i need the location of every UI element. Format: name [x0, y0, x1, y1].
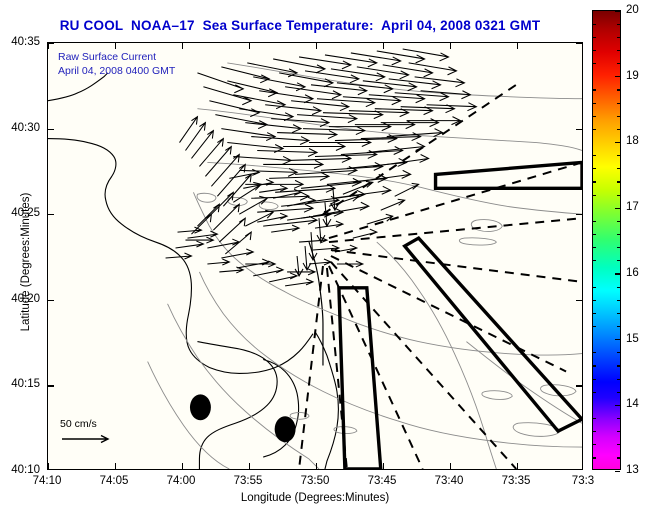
y-tick-left [48, 300, 54, 301]
page-title: RU COOL NOAA–17 Sea Surface Temperature:… [0, 18, 600, 33]
map-plot-area: Raw Surface Current April 04, 2008 0400 … [47, 42, 583, 470]
colorbar-minor-tick [593, 313, 596, 314]
colorbar-minor-tick [617, 287, 620, 288]
y-tick-right [576, 214, 582, 215]
colorbar-minor-tick [617, 392, 620, 393]
x-tick-top [316, 43, 317, 49]
colorbar-minor-tick [593, 129, 596, 130]
colorbar-minor-tick [617, 260, 620, 261]
colorbar-minor-tick [617, 418, 620, 419]
transect-box-3 [339, 288, 381, 469]
x-tick-top [249, 43, 250, 49]
colorbar-tick-label: 16 [626, 267, 639, 279]
colorbar-tick [615, 273, 620, 274]
colorbar-minor-tick [593, 63, 596, 64]
x-tick-label: 73:50 [301, 475, 330, 487]
colorbar-tick [615, 142, 620, 143]
x-tick-top [383, 43, 384, 49]
y-tick-left [48, 43, 54, 44]
colorbar-tick-label: 15 [626, 333, 639, 345]
coastline-outer [309, 242, 323, 365]
y-tick-right [576, 385, 582, 386]
colorbar-tick-label: 18 [626, 135, 639, 147]
colorbar-minor-tick [617, 444, 620, 445]
x-tick-label: 73:40 [435, 475, 464, 487]
x-tick-bottom [316, 463, 317, 469]
transect-box-1 [436, 162, 582, 188]
colorbar-minor-tick [617, 313, 620, 314]
y-tick-right [576, 129, 582, 130]
colorbar-minor-tick [593, 24, 596, 25]
colorbar-tick [615, 76, 620, 77]
colorbar-minor-tick [593, 195, 596, 196]
y-tick-label: 40:35 [0, 36, 40, 48]
x-tick-top [450, 43, 451, 49]
x-tick-bottom [115, 463, 116, 469]
colorbar-minor-tick [617, 103, 620, 104]
y-tick-left [48, 129, 54, 130]
x-tick-label: 73:35 [502, 475, 531, 487]
colorbar-minor-tick [593, 379, 596, 380]
x-tick-top [182, 43, 183, 49]
colorbar-minor-tick [593, 326, 596, 327]
x-tick-bottom [48, 463, 49, 469]
colorbar-tick-label: 14 [626, 398, 639, 410]
colorbar-tick-label: 17 [626, 201, 639, 213]
colorbar-minor-tick [617, 247, 620, 248]
bathymetry-contours [148, 63, 582, 469]
y-tick-left [48, 214, 54, 215]
colorbar-tick [615, 405, 620, 406]
colorbar-minor-tick [593, 221, 596, 222]
x-tick-label: 73:3 [572, 475, 594, 487]
colorbar-tick-label: 13 [626, 464, 639, 476]
colorbar-minor-tick [617, 24, 620, 25]
transect-boxes [339, 162, 582, 469]
y-tick-right [576, 300, 582, 301]
colorbar-minor-tick [593, 116, 596, 117]
x-tick-label: 73:55 [234, 475, 263, 487]
colorbar-minor-tick [593, 431, 596, 432]
colorbar-minor-tick [593, 457, 596, 458]
x-tick-top [517, 43, 518, 49]
colorbar-minor-tick [593, 444, 596, 445]
transect-box-2 [405, 238, 582, 431]
colorbar-minor-tick [617, 379, 620, 380]
colorbar-minor-tick [593, 181, 596, 182]
colorbar-minor-tick [593, 247, 596, 248]
colorbar-minor-tick [617, 431, 620, 432]
colorbar-minor-tick [593, 50, 596, 51]
colorbar-minor-tick [617, 181, 620, 182]
colorbar-minor-tick [617, 365, 620, 366]
map-canvas [48, 43, 582, 469]
x-tick-bottom [249, 463, 250, 469]
colorbar-tick-label: 20 [626, 4, 639, 16]
colorbar-minor-tick [593, 89, 596, 90]
colorbar-tick [615, 208, 620, 209]
colorbar-minor-tick [617, 221, 620, 222]
colorbar-minor-tick [593, 365, 596, 366]
x-axis-title: Longitude (Degrees:Minutes) [47, 492, 583, 504]
colorbar-minor-tick [617, 37, 620, 38]
colorbar-minor-tick [617, 352, 620, 353]
coastline-peninsula [197, 342, 298, 469]
station-marker-2 [275, 416, 296, 442]
colorbar-minor-tick [617, 300, 620, 301]
y-axis-title: Latitude (Degrees:Minutes) [20, 172, 32, 352]
colorbar-minor-tick [593, 155, 596, 156]
x-tick-label: 74:05 [100, 475, 129, 487]
x-tick-top [115, 43, 116, 49]
colorbar-minor-tick [593, 287, 596, 288]
x-tick-label: 74:10 [33, 475, 62, 487]
vector-cluster-sparse [166, 169, 419, 285]
colorbar-minor-tick [617, 195, 620, 196]
y-tick-left [48, 385, 54, 386]
scale-arrow-icon [60, 432, 116, 446]
landmass [48, 43, 207, 469]
y-tick-right [576, 43, 582, 44]
colorbar-tick-label: 19 [626, 70, 639, 82]
colorbar-minor-tick [593, 352, 596, 353]
vector-cluster-dense [197, 49, 476, 226]
colorbar-tick [615, 471, 620, 472]
colorbar-minor-tick [617, 89, 620, 90]
station-marker-1 [190, 394, 211, 420]
x-tick-label: 74:00 [167, 475, 196, 487]
colorbar-tick [615, 11, 620, 12]
scale-legend-label: 50 cm/s [60, 418, 116, 430]
colorbar-minor-tick [617, 63, 620, 64]
colorbar-tick [615, 339, 620, 340]
colorbar-minor-tick [593, 392, 596, 393]
colorbar-minor-tick [593, 37, 596, 38]
colorbar-minor-tick [617, 457, 620, 458]
colorbar-minor-tick [593, 418, 596, 419]
y-tick-label: 40:30 [0, 122, 40, 134]
colorbar-minor-tick [593, 103, 596, 104]
x-tick-bottom [182, 463, 183, 469]
colorbar-minor-tick [593, 234, 596, 235]
colorbar-minor-tick [617, 129, 620, 130]
scale-legend: 50 cm/s [60, 418, 116, 451]
x-tick-label: 73:45 [368, 475, 397, 487]
colorbar-minor-tick [617, 50, 620, 51]
colorbar-minor-tick [593, 260, 596, 261]
x-tick-bottom [383, 463, 384, 469]
y-tick-label: 40:15 [0, 378, 40, 390]
y-tick-label: 40:10 [0, 464, 40, 476]
x-tick-bottom [517, 463, 518, 469]
colorbar-minor-tick [617, 168, 620, 169]
colorbar-minor-tick [593, 168, 596, 169]
colorbar-minor-tick [593, 300, 596, 301]
colorbar-minor-tick [617, 326, 620, 327]
colorbar [592, 10, 621, 470]
colorbar-minor-tick [617, 116, 620, 117]
colorbar-minor-tick [617, 155, 620, 156]
x-tick-bottom [450, 463, 451, 469]
colorbar-minor-tick [617, 234, 620, 235]
